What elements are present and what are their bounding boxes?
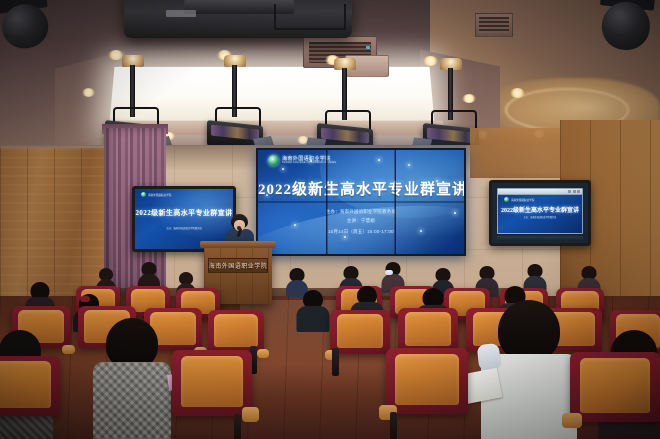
wood-panel-upper-right (470, 128, 562, 178)
auditorium-seat[interactable] (208, 310, 264, 352)
vent-indicator-led (366, 46, 370, 49)
auditorium-photo: 海南外国语职业学院 HAINAN COLLEGE OF FOREIGN STUD… (0, 0, 660, 439)
school-emblem-icon (268, 155, 279, 166)
side-monitor-right-screen: 海南外国语职业学院 2022级新生高水平专业群宣讲 主办：海南外国语职业学院教务… (492, 183, 588, 243)
auditorium-seat[interactable] (0, 356, 60, 416)
seat-armrest (562, 413, 582, 428)
downlight (423, 56, 438, 66)
side-monitor-left-screen: 海南外国语职业学院 2022级新生高水平专业群宣讲 主办：海南外国语职业学院教务… (135, 189, 233, 249)
side-monitor-right-title: 2022级新生高水平专业群宣讲 (498, 205, 582, 214)
podium-nameplate: 海南外国语职业学院 (208, 258, 268, 273)
seat-armrest (257, 349, 269, 358)
school-emblem-icon (504, 197, 509, 202)
auditorium-seat[interactable] (386, 348, 468, 414)
attendee (298, 290, 328, 330)
school-emblem-icon (141, 192, 146, 197)
slide-institution-logo: 海南外国语职业学院 HAINAN COLLEGE OF FOREIGN STUD… (268, 155, 336, 166)
side-monitor-right[interactable]: 海南外国语职业学院 2022级新生高水平专业群宣讲 主办：海南外国语职业学院教务… (489, 180, 591, 246)
slide-subtitle-organizer: 主办：海南外国语职业学院教务处 (258, 209, 464, 215)
video-wall-screen: 海南外国语职业学院 HAINAN COLLEGE OF FOREIGN STUD… (258, 150, 464, 254)
projector-badge (166, 10, 196, 17)
ceiling-projector (124, 0, 352, 38)
downlight (510, 88, 525, 98)
slide-subtitle-datetime: 10月14日（周五）15:00-17:00 (258, 229, 464, 235)
podium-top-surface (200, 241, 276, 248)
side-monitor-left-logo: 海南外国语职业学院 (141, 192, 171, 197)
monitor-bottom-strip (497, 236, 583, 241)
checked-blazer (93, 362, 171, 439)
slide-logo-subtext: HAINAN COLLEGE OF FOREIGN STUDIES (282, 162, 336, 165)
face-mask (385, 270, 393, 275)
auditorium-seat[interactable] (172, 350, 252, 416)
led-video-wall[interactable]: 海南外国语职业学院 HAINAN COLLEGE OF FOREIGN STUD… (256, 148, 466, 256)
window-titlebar[interactable] (498, 189, 582, 195)
attendee-foreground-left (96, 318, 168, 439)
podium-nameplate-text: 海南外国语职业学院 (209, 261, 268, 270)
microphone-head-icon (237, 226, 241, 230)
auditorium-seat[interactable] (330, 310, 390, 354)
side-monitor-right-logo-text: 海南外国语职业学院 (511, 198, 534, 202)
downlight (82, 88, 95, 97)
side-monitor-right-subtitle: 主办：海南外国语职业学院教务处 (498, 215, 582, 219)
face-mask (477, 343, 502, 371)
seat-armrest (62, 345, 75, 354)
hair-scrunchie (80, 296, 90, 302)
ceiling-vent-square (475, 13, 513, 37)
ptz-camera-icon (0, 0, 66, 61)
side-monitor-left-title: 2022级新生高水平专业群宣讲 (135, 208, 233, 218)
slide-title: 2022级新生高水平专业群宣讲 (258, 178, 464, 199)
auditorium-seat[interactable] (398, 308, 458, 352)
side-monitor-right-logo: 海南外国语职业学院 (504, 197, 534, 202)
ptz-camera-icon (587, 0, 660, 62)
slide-logo-wordmark: 海南外国语职业学院 HAINAN COLLEGE OF FOREIGN STUD… (282, 157, 336, 165)
downlight (462, 94, 476, 103)
presentation-window[interactable]: 海南外国语职业学院 2022级新生高水平专业群宣讲 主办：海南外国语职业学院教务… (497, 188, 583, 234)
side-monitor-left-logo-text: 海南外国语职业学院 (148, 193, 171, 197)
projector-mount-bracket (274, 4, 346, 30)
auditorium-seat[interactable] (570, 352, 660, 422)
attendee-foreground-right (486, 300, 572, 439)
side-monitor-left-subtitle: 主办：海南外国语职业学院教务处 (135, 226, 233, 230)
slide-subtitle-speaker: 主讲：宁慧娟 (258, 218, 464, 224)
seat-armrest (242, 407, 260, 422)
window-controls-icon[interactable] (568, 190, 580, 193)
